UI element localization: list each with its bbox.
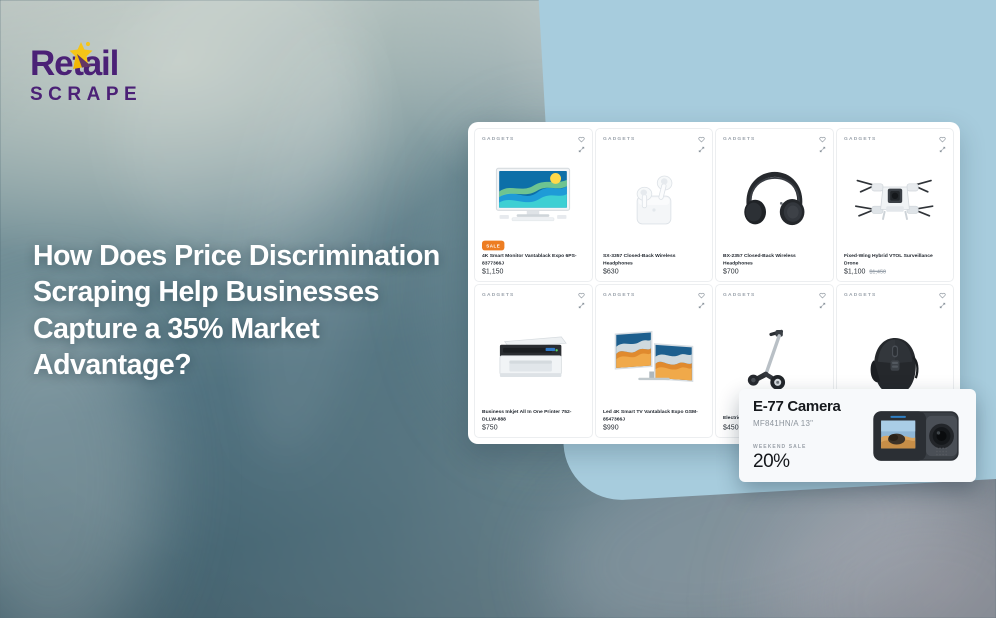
drone-image — [844, 148, 947, 252]
product-price: $990 — [603, 424, 706, 432]
product-price: $700 — [723, 268, 826, 276]
price-value: $750 — [482, 424, 498, 432]
product-title: Led 4K Smart TV Vantablack Expo GSM-8547… — [603, 408, 705, 422]
product-card-header: GADGETS — [723, 292, 826, 304]
price-value: $630 — [603, 268, 619, 276]
product-card-header: GADGETS — [603, 136, 706, 148]
product-card-header: GADGETS — [844, 136, 947, 148]
poster-canvas: Retail SCRAPE How Does Price Discriminat… — [0, 0, 996, 618]
product-price: $1,100$1,450 — [844, 268, 947, 276]
product-card-header: GADGETS — [844, 292, 947, 304]
product-card-header: GADGETS — [603, 292, 706, 304]
printer-image — [482, 304, 585, 408]
promo-details: E-77 Camera MF841HN/A 13" WEEKEND SALE 2… — [753, 398, 870, 473]
promo-model: MF841HN/A 13" — [753, 419, 870, 428]
price-value: $700 — [723, 268, 739, 276]
product-card-header: GADGETS — [482, 136, 585, 148]
heart-icon[interactable] — [698, 136, 705, 143]
price-value: $450 — [723, 424, 739, 432]
star-icon — [66, 40, 96, 80]
product-card[interactable]: GADGETS Business — [474, 284, 593, 438]
product-price: $630 — [603, 268, 706, 276]
heart-icon[interactable] — [578, 136, 585, 143]
promo-kicker: WEEKEND SALE — [753, 444, 870, 450]
product-title: SX-3357 Closed-Back Wireless Headphones — [603, 252, 705, 266]
tv-image — [603, 304, 706, 408]
action-camera-image — [870, 405, 962, 467]
product-category: GADGETS — [603, 136, 636, 141]
old-price: $1,450 — [869, 268, 886, 275]
heart-icon[interactable] — [819, 136, 826, 143]
price-value: $1,100 — [844, 268, 865, 276]
logo-wordmark-top: Retail — [30, 44, 180, 84]
headphones-image — [723, 148, 826, 252]
product-title: Fixed-Wing Hybrid VTOL Surveillance Dron… — [844, 252, 946, 266]
heart-icon[interactable] — [939, 292, 946, 299]
product-category: GADGETS — [844, 292, 877, 297]
product-card[interactable]: GADGETS BX-2357 Closed-Back — [715, 128, 834, 282]
monitor-image — [482, 148, 585, 242]
price-value: $1,150 — [482, 268, 503, 276]
promo-title: E-77 Camera — [753, 398, 870, 415]
promo-discount: 20% — [753, 451, 870, 473]
product-category: GADGETS — [603, 292, 636, 297]
product-title: Business Inkjet All In One Printer 752-D… — [482, 408, 584, 422]
logo-scrape-text: SCRAPE — [30, 83, 180, 107]
logo-retail-text: Retail — [30, 44, 180, 84]
product-card-header: GADGETS — [482, 292, 585, 304]
product-card[interactable]: GADGETS — [595, 284, 714, 438]
product-card-header: GADGETS — [723, 136, 826, 148]
product-card[interactable]: GADGETS — [474, 128, 593, 282]
product-card[interactable]: GADGETS — [595, 128, 714, 282]
product-price: $750 — [482, 424, 585, 432]
page-title: How Does Price Discrimination Scraping H… — [33, 238, 463, 384]
product-category: GADGETS — [482, 136, 515, 141]
product-category: GADGETS — [844, 136, 877, 141]
heart-icon[interactable] — [819, 292, 826, 299]
sale-badge: SALE — [482, 241, 505, 251]
product-card[interactable]: GADGETS — [836, 128, 955, 282]
heart-icon[interactable] — [578, 292, 585, 299]
earbuds-image — [603, 148, 706, 252]
heart-icon[interactable] — [939, 136, 946, 143]
product-category: GADGETS — [723, 136, 756, 141]
product-title: BX-2357 Closed-Back Wireless Headphones — [723, 252, 825, 266]
promo-popup[interactable]: E-77 Camera MF841HN/A 13" WEEKEND SALE 2… — [739, 389, 976, 482]
product-category: GADGETS — [482, 292, 515, 297]
brand-logo: Retail SCRAPE — [30, 44, 180, 107]
product-title: 4K Smart Monitor Vantablack Expo 6PS-837… — [482, 252, 584, 266]
price-value: $990 — [603, 424, 619, 432]
heart-icon[interactable] — [698, 292, 705, 299]
product-category: GADGETS — [723, 292, 756, 297]
product-price: $1,150 — [482, 268, 585, 276]
